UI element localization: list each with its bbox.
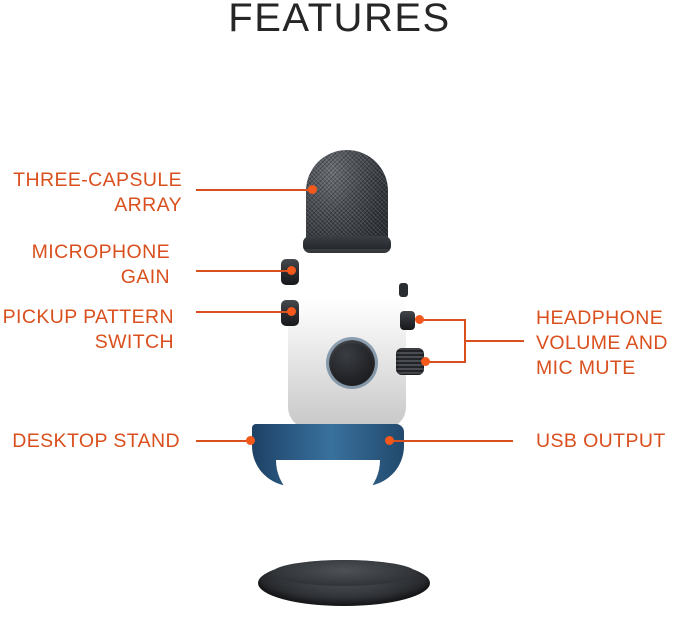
stand-arm-cutout: [276, 460, 380, 506]
callout-label-desktop-stand: DESKTOP STAND: [0, 429, 180, 454]
leader-dot-microphone-gain: [287, 266, 296, 275]
stand-base-top: [272, 560, 416, 586]
leader-line-mic-mute: [426, 361, 466, 363]
microphone-body-shading: [288, 249, 406, 429]
desktop-stand-arm: [252, 424, 404, 486]
leader-line-pickup-pattern-switch: [196, 311, 291, 313]
leader-dot-usb-output: [385, 436, 394, 445]
leader-dot-pickup-pattern-switch: [287, 307, 296, 316]
usb-connector-nub: [399, 283, 408, 297]
stand-base: [258, 560, 430, 606]
three-capsule-grille: [306, 150, 388, 250]
leader-line-three-capsule-array: [196, 189, 312, 191]
mic-mute-knob: [396, 348, 424, 375]
callout-label-microphone-gain: MICROPHONE GAIN: [0, 240, 170, 290]
mute-button: [329, 340, 375, 386]
headphone-volume-knob: [400, 311, 415, 330]
desktop-stand-column: [278, 500, 334, 582]
leader-dot-desktop-stand: [246, 436, 255, 445]
callout-label-three-capsule-array: THREE-CAPSULE ARRAY: [2, 168, 182, 218]
page-title: FEATURES: [0, 0, 679, 41]
leader-line-microphone-gain: [196, 270, 291, 272]
leader-line-usb-output: [389, 440, 513, 442]
grille-collar: [303, 236, 391, 253]
microphone-body: [288, 249, 406, 429]
leader-dot-headphone-volume: [415, 315, 424, 324]
desktop-stand-neck: [244, 455, 314, 579]
leader-line-bracket-stem: [464, 340, 524, 342]
callout-label-pickup-pattern-switch: PICKUP PATTERN SWITCH: [0, 305, 174, 355]
callout-label-headphone-volume-mic-mute: HEADPHONE VOLUME AND MIC MUTE: [536, 306, 679, 381]
leader-dot-mic-mute: [421, 357, 430, 366]
leader-dot-three-capsule-array: [308, 185, 317, 194]
callout-label-usb-output: USB OUTPUT: [536, 429, 679, 454]
leader-line-desktop-stand: [196, 440, 250, 442]
leader-line-headphone-volume: [420, 319, 466, 321]
